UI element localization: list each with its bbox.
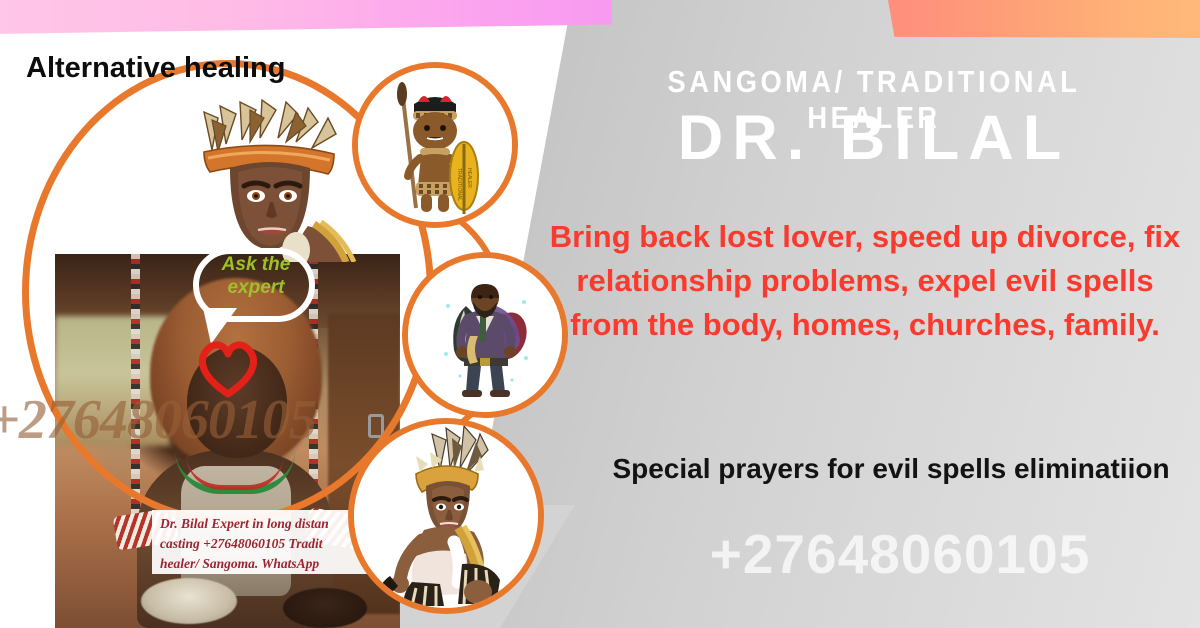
- thumbnail-crouching-warrior[interactable]: [348, 418, 544, 614]
- alternative-healing-heading: Alternative healing: [26, 52, 285, 85]
- special-prayers-text: Special prayers for evil spells eliminat…: [596, 446, 1186, 491]
- poster-canvas: Alternative healing: [0, 0, 1200, 628]
- chief-illustration: [178, 98, 358, 262]
- zulu-warrior-icon: TRADITIONAL HEALER: [358, 68, 512, 222]
- svg-text:TRADITIONAL: TRADITIONAL: [456, 168, 462, 201]
- phone-watermark: +27648060105: [600, 522, 1200, 586]
- thumbnail-zulu-warrior[interactable]: TRADITIONAL HEALER: [352, 62, 518, 228]
- orange-accent-band: [888, 0, 1200, 38]
- crouching-warrior-icon: [354, 424, 538, 608]
- pink-accent-band: [0, 0, 612, 34]
- svg-text:HEALER: HEALER: [466, 168, 472, 188]
- bearded-healer-icon: [408, 258, 562, 412]
- services-description: Bring back lost lover, speed up divorce,…: [540, 215, 1190, 347]
- page-title: DR. BILAL: [560, 103, 1188, 173]
- ritual-bowl: [141, 578, 237, 624]
- heart-icon: [195, 338, 261, 398]
- speech-bubble-text: Ask the expert: [200, 253, 312, 299]
- ritual-pot: [283, 588, 367, 628]
